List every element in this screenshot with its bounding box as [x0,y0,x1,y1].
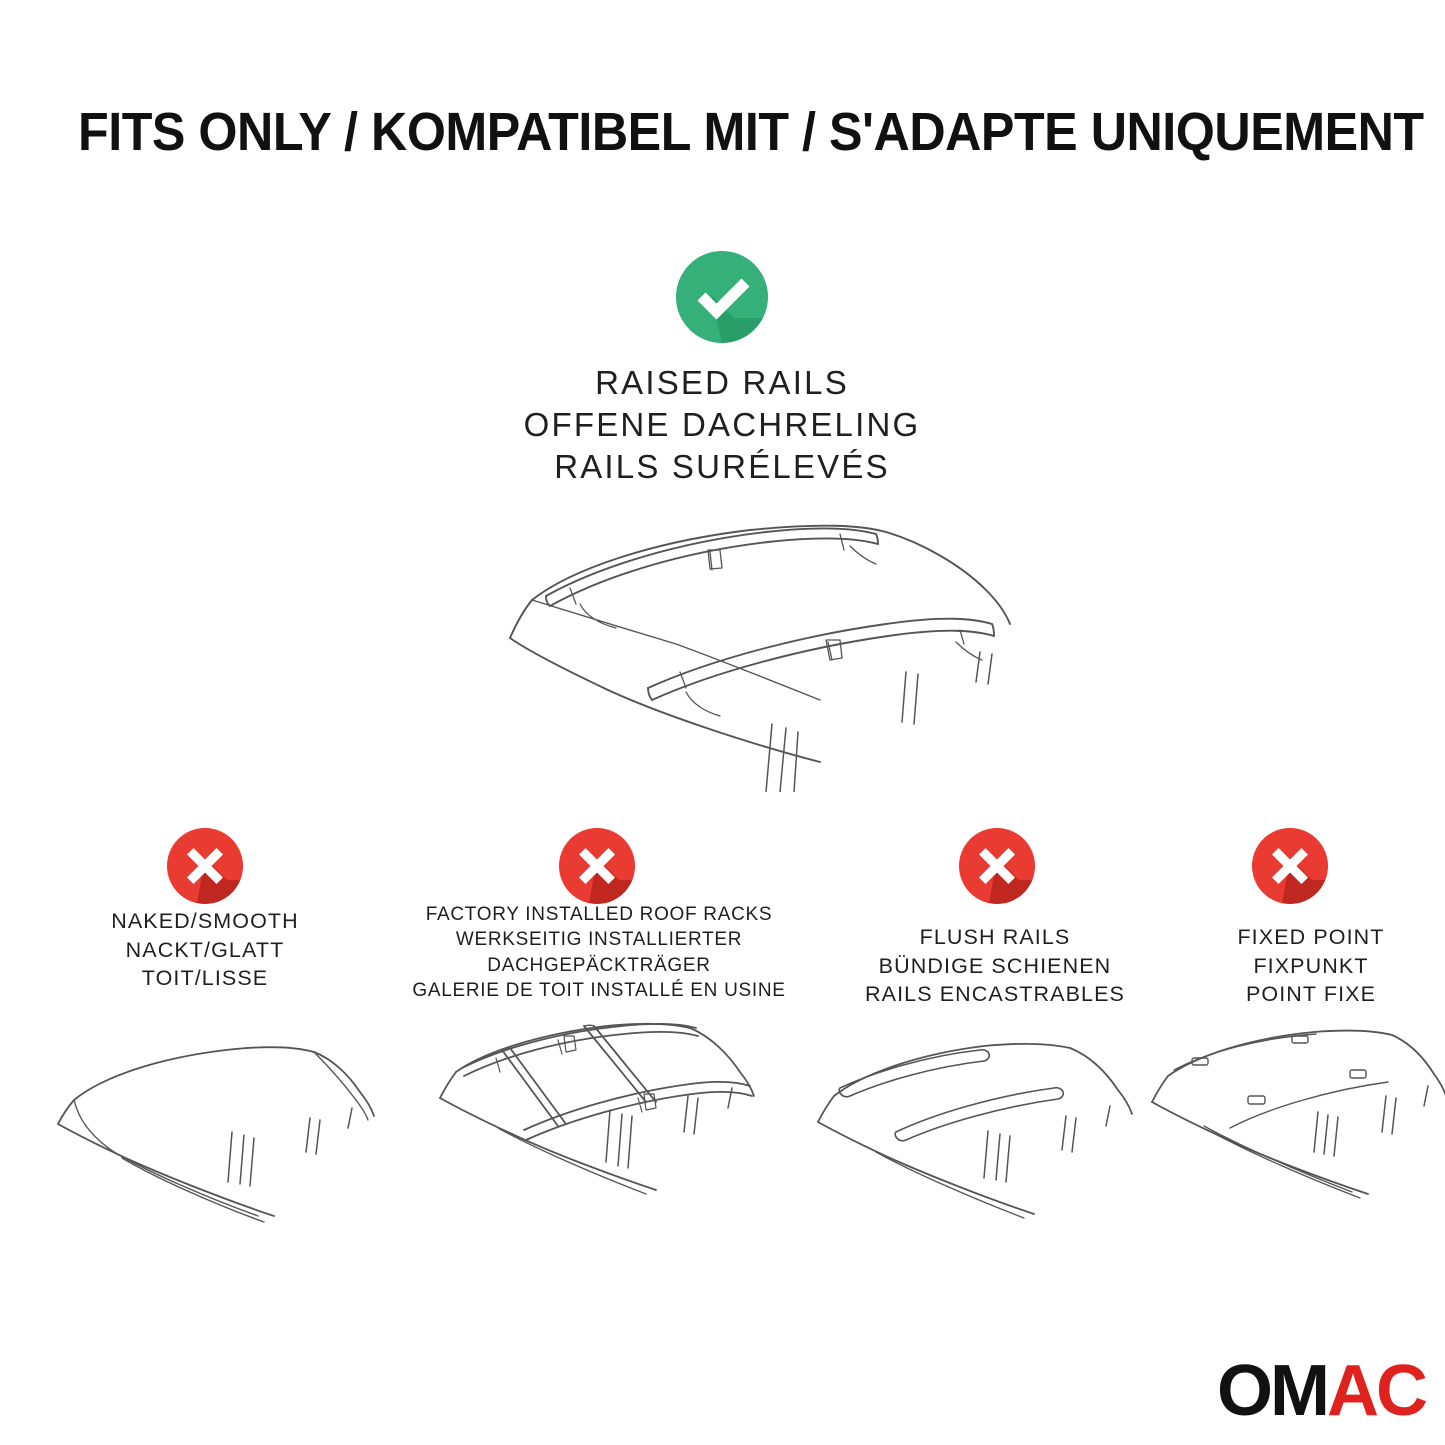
flush-rails-caption: FLUSH RAILS BÜNDIGE SCHIENEN RAILS ENCAS… [830,923,1160,1009]
page-title: FITS ONLY / KOMPATIBEL MIT / S'ADAPTE UN… [78,104,1287,161]
omac-logo: OMAC [1217,1355,1425,1427]
cross-circle-icon [167,828,243,904]
naked-smooth-line-de: NACKT/GLATT [45,936,365,965]
car-roof-raised-rails-illustration [420,492,1020,792]
car-roof-factory-roof-racks-illustration [398,1010,770,1240]
fixed-point-line-fr: POINT FIXE [1180,980,1442,1009]
flush-rails-line-fr: RAILS ENCASTRABLES [830,980,1160,1009]
fixed-point-caption: FIXED POINT FIXPUNKT POINT FIXE [1180,923,1442,1009]
flush-rails-line-en: FLUSH RAILS [830,923,1160,952]
naked-smooth-line-fr: TOIT/LISSE [45,964,365,993]
compatible-line-fr: RAILS SURÉLEVÉS [422,446,1022,488]
infographic-canvas: FITS ONLY / KOMPATIBEL MIT / S'ADAPTE UN… [0,0,1445,1445]
naked-smooth-caption: NAKED/SMOOTH NACKT/GLATT TOIT/LISSE [45,907,365,993]
factory-racks-line-en: FACTORY INSTALLED ROOF RACKS [368,902,830,927]
factory-racks-line-de-1: WERKSEITIG INSTALLIERTER [368,927,830,952]
compatible-line-en: RAISED RAILS [422,362,1022,404]
check-circle-icon [676,251,768,343]
car-roof-naked-smooth-illustration [18,1022,388,1237]
fixed-point-line-en: FIXED POINT [1180,923,1442,952]
cross-circle-icon [1252,828,1328,904]
factory-racks-caption: FACTORY INSTALLED ROOF RACKS WERKSEITIG … [368,902,830,1003]
logo-text-black: OM [1217,1355,1327,1427]
cross-circle-icon [559,828,635,904]
compatible-line-de: OFFENE DACHRELING [422,404,1022,446]
flush-rails-line-de: BÜNDIGE SCHIENEN [830,952,1160,981]
factory-racks-line-de-2: DACHGEPÄCKTRÄGER [368,953,830,978]
compatible-caption: RAISED RAILS OFFENE DACHRELING RAILS SUR… [422,362,1022,489]
car-roof-flush-rails-illustration [778,1022,1150,1240]
factory-racks-line-fr: GALERIE DE TOIT INSTALLÉ EN USINE [368,978,830,1003]
fixed-point-line-de: FIXPUNKT [1180,952,1442,981]
cross-circle-icon [959,828,1035,904]
car-roof-fixed-point-illustration [1138,1020,1445,1238]
naked-smooth-line-en: NAKED/SMOOTH [45,907,365,936]
logo-text-red: AC [1327,1355,1425,1427]
